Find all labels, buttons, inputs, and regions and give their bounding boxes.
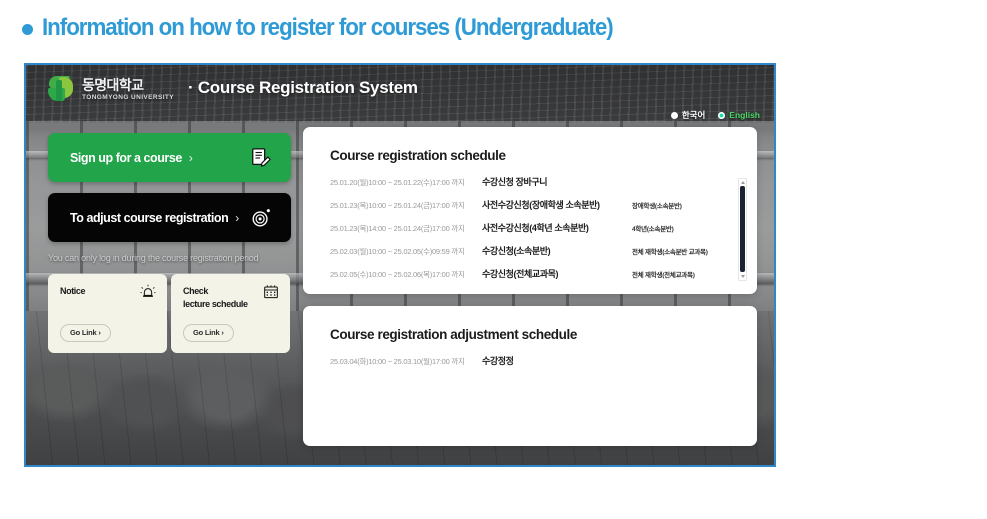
schedule-row: 25.03.04(화)10:00 ~ 25.03.10(월)17:00 까지 수…: [330, 354, 757, 377]
language-option-english[interactable]: English: [718, 110, 760, 120]
sign-up-label: Sign up for a course: [70, 151, 182, 165]
notice-card-title: Notice: [60, 285, 85, 298]
siren-icon: [140, 284, 156, 300]
lecture-schedule-title-line2: lecture schedule: [183, 298, 248, 311]
left-column: Sign up for a course › To adjust course …: [48, 133, 291, 353]
schedule-row: 25.02.03(월)10:00 ~ 25.02.05(수)09:59 까지 수…: [330, 244, 757, 267]
radio-icon: [671, 112, 678, 119]
system-title: · Course Registration System: [188, 78, 418, 98]
lecture-schedule-go-link-button[interactable]: Go Link ›: [183, 324, 234, 342]
schedule-name: 수강신청(전체교과목): [482, 267, 632, 280]
brand-logo[interactable]: 동명대학교 TONGMYONG UNIVERSITY: [48, 75, 174, 102]
lecture-schedule-card-title: Check lecture schedule: [183, 285, 248, 311]
adjust-label: To adjust course registration: [70, 211, 228, 225]
slide-heading: Information on how to register for cours…: [22, 14, 656, 42]
adjustment-panel-title: Course registration adjustment schedule: [303, 306, 757, 342]
notice-card[interactable]: Notice Go Link ›: [48, 274, 167, 353]
document-pen-icon: [250, 147, 272, 169]
schedule-row: 25.01.23(목)14:00 ~ 25.01.24(금)17:00 까지 사…: [330, 221, 757, 244]
language-label-korean: 한국어: [682, 109, 705, 121]
schedule-list: 25.01.20(월)10:00 ~ 25.01.22(수)17:00 까지 수…: [303, 175, 757, 290]
schedule-target: 장애학생(소속분반): [632, 200, 682, 210]
page-title: Information on how to register for cours…: [42, 14, 613, 42]
course-registration-adjustment-panel: Course registration adjustment schedule …: [303, 306, 757, 446]
schedule-row: 25.02.05(수)10:00 ~ 25.02.06(목)17:00 까지 수…: [330, 267, 757, 290]
course-registration-schedule-panel: Course registration schedule 25.01.20(월)…: [303, 127, 757, 294]
schedule-period: 25.02.05(수)10:00 ~ 25.02.06(목)17:00 까지: [330, 269, 482, 280]
schedule-scrollbar[interactable]: [738, 178, 747, 281]
schedule-panel-title: Course registration schedule: [303, 127, 757, 163]
schedule-row: 25.01.20(월)10:00 ~ 25.01.22(수)17:00 까지 수…: [330, 175, 757, 198]
chevron-right-icon: ›: [235, 211, 239, 225]
tongmyong-leaf-logo-icon: [48, 75, 74, 102]
login-period-note: You can only log in during the course re…: [48, 253, 291, 263]
notice-go-link-button[interactable]: Go Link ›: [60, 324, 111, 342]
schedule-name: 사전수강신청(4학년 소속분반): [482, 221, 632, 234]
site-header: 동명대학교 TONGMYONG UNIVERSITY · Course Regi…: [26, 65, 774, 125]
scroll-up-arrow-icon[interactable]: [741, 181, 745, 184]
schedule-name: 수강신청(소속분반): [482, 244, 632, 257]
schedule-period: 25.03.04(화)10:00 ~ 25.03.10(월)17:00 까지: [330, 356, 482, 367]
sign-up-for-course-button[interactable]: Sign up for a course ›: [48, 133, 291, 182]
brand-name-en: TONGMYONG UNIVERSITY: [82, 95, 174, 102]
schedule-target: 전체 재학생(전체교과목): [632, 269, 695, 279]
brand-name-ko: 동명대학교: [82, 78, 174, 92]
schedule-period: 25.01.20(월)10:00 ~ 25.01.22(수)17:00 까지: [330, 177, 482, 188]
quick-link-cards: Notice Go Link ›: [48, 274, 291, 353]
schedule-target: 전체 재학생(소속분반 교과목): [632, 246, 708, 256]
bullet-icon: [22, 24, 33, 35]
language-option-korean[interactable]: 한국어: [671, 109, 705, 121]
language-switch[interactable]: 한국어 English: [671, 109, 760, 121]
scroll-down-arrow-icon[interactable]: [741, 275, 745, 278]
schedule-period: 25.01.23(목)10:00 ~ 25.01.24(금)17:00 까지: [330, 200, 482, 211]
calendar-icon: [263, 284, 279, 300]
adjust-course-registration-button[interactable]: To adjust course registration ›: [48, 193, 291, 242]
schedule-name: 수강정정: [482, 354, 632, 367]
scrollbar-thumb[interactable]: [740, 186, 745, 272]
lecture-schedule-title-line1: Check: [183, 285, 248, 298]
target-icon: [250, 207, 272, 229]
schedule-name: 사전수강신청(장애학생 소속분반): [482, 198, 632, 211]
schedule-name: 수강신청 장바구니: [482, 175, 632, 188]
schedule-period: 25.02.03(월)10:00 ~ 25.02.05(수)09:59 까지: [330, 246, 482, 257]
chevron-right-icon: ›: [189, 151, 193, 165]
lecture-schedule-card[interactable]: Check lecture schedule: [171, 274, 290, 353]
radio-selected-icon: [718, 112, 725, 119]
schedule-period: 25.01.23(목)14:00 ~ 25.01.24(금)17:00 까지: [330, 223, 482, 234]
language-label-english: English: [729, 110, 760, 120]
screenshot-frame: 동명대학교 TONGMYONG UNIVERSITY · Course Regi…: [24, 63, 776, 467]
schedule-target: 4학년(소속분반): [632, 223, 674, 233]
adjustment-list: 25.03.04(화)10:00 ~ 25.03.10(월)17:00 까지 수…: [303, 354, 757, 377]
schedule-row: 25.01.23(목)10:00 ~ 25.01.24(금)17:00 까지 사…: [330, 198, 757, 221]
